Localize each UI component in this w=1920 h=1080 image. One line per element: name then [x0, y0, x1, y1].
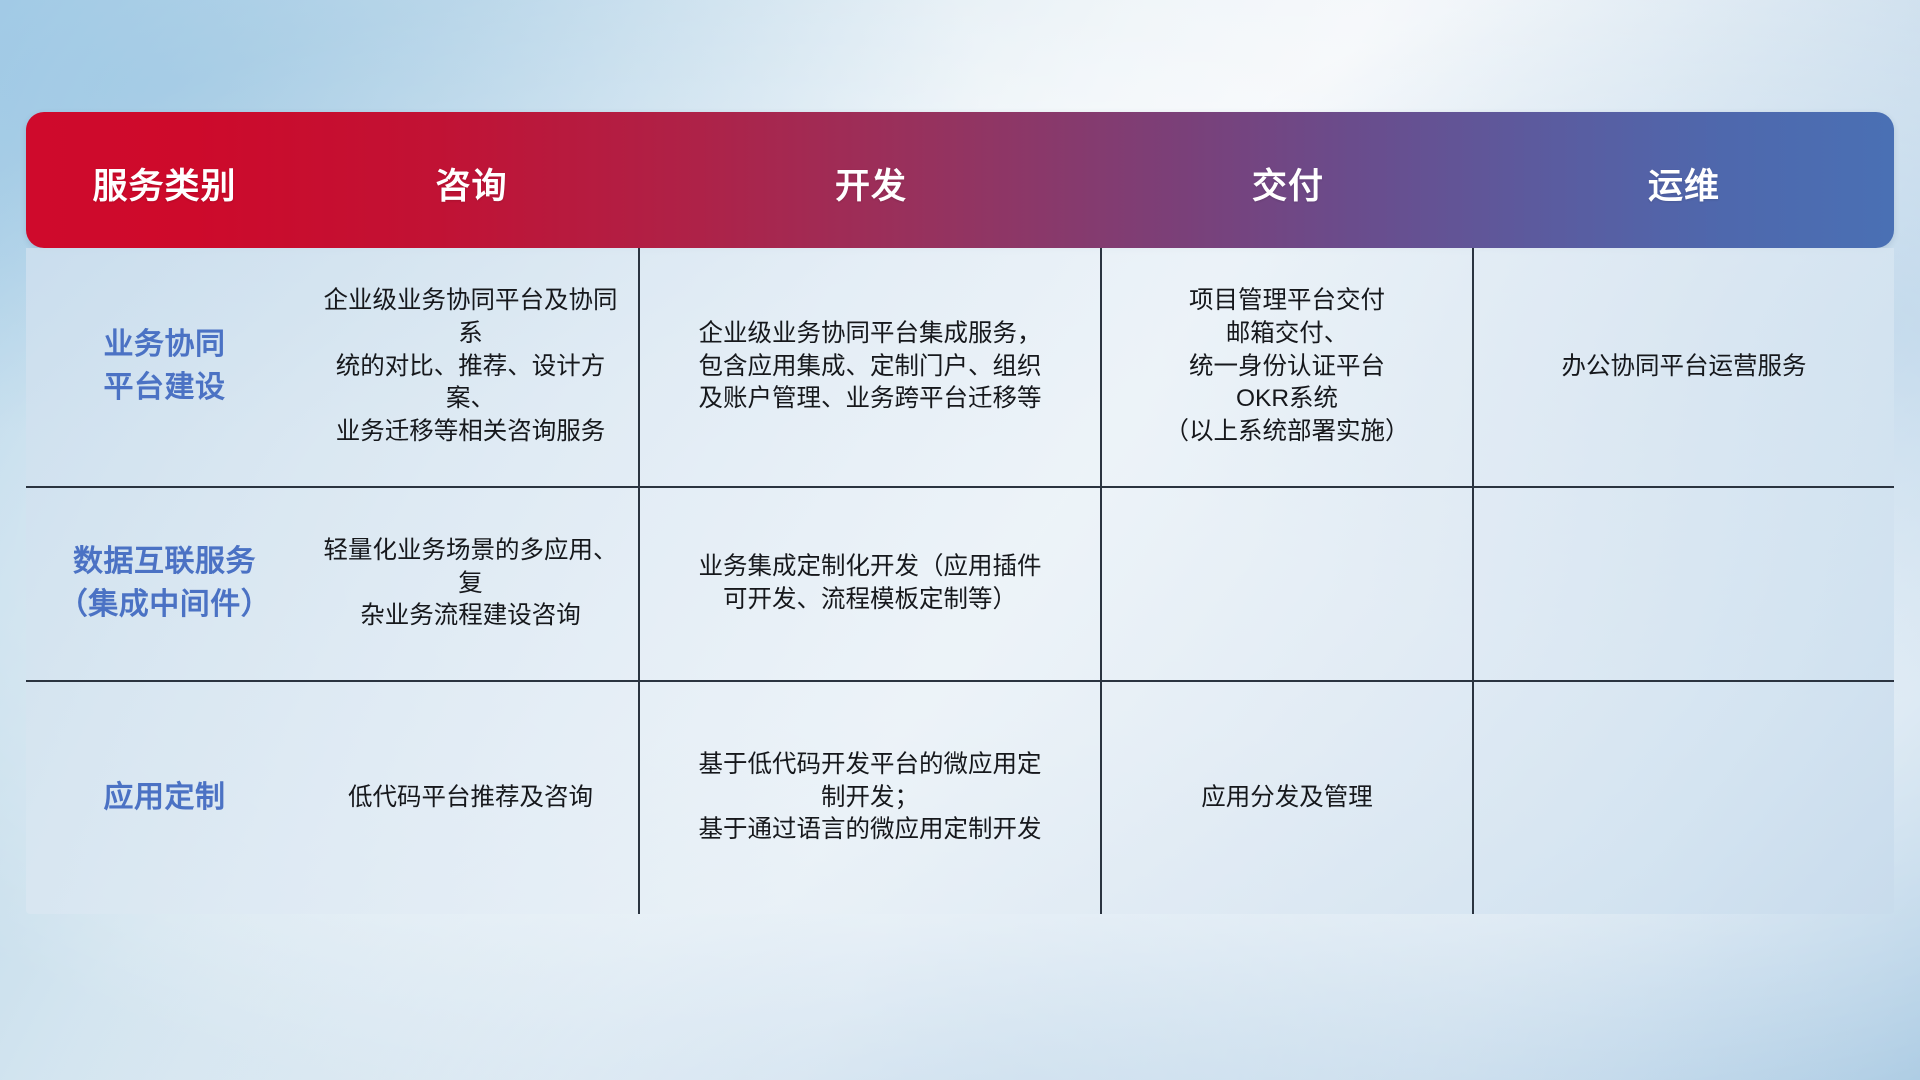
- column-header-category: 服务类别: [26, 112, 303, 248]
- table-header-row: 服务类别 咨询 开发 交付 运维: [26, 112, 1894, 248]
- table-row: 数据互联服务 （集成中间件） 轻量化业务场景的多应用、复 杂业务流程建设咨询 业…: [26, 488, 1894, 682]
- cell-consulting: 轻量化业务场景的多应用、复 杂业务流程建设咨询: [303, 488, 640, 680]
- column-header-operations: 运维: [1474, 112, 1894, 248]
- column-header-development: 开发: [640, 112, 1102, 248]
- cell-delivery: 项目管理平台交付 邮箱交付、 统一身份认证平台 OKR系统 （以上系统部署实施）: [1102, 248, 1474, 486]
- column-header-consulting: 咨询: [303, 112, 640, 248]
- cell-development: 企业级业务协同平台集成服务， 包含应用集成、定制门户、组织 及账户管理、业务跨平…: [640, 248, 1102, 486]
- slide-canvas: 服务类别 咨询 开发 交付 运维 业务协同 平台建设 企业级业务协同平台及协同系…: [0, 0, 1920, 1080]
- cell-operations: [1474, 682, 1894, 914]
- table-body: 业务协同 平台建设 企业级业务协同平台及协同系 统的对比、推荐、设计方案、 业务…: [26, 248, 1894, 914]
- row-category-label: 数据互联服务 （集成中间件）: [26, 488, 303, 680]
- cell-delivery: [1102, 488, 1474, 680]
- cell-delivery: 应用分发及管理: [1102, 682, 1474, 914]
- cell-development: 业务集成定制化开发（应用插件 可开发、流程模板定制等）: [640, 488, 1102, 680]
- cell-operations: [1474, 488, 1894, 680]
- service-matrix-table: 服务类别 咨询 开发 交付 运维 业务协同 平台建设 企业级业务协同平台及协同系…: [26, 112, 1894, 914]
- cell-operations: 办公协同平台运营服务: [1474, 248, 1894, 486]
- row-category-label: 应用定制: [26, 682, 303, 914]
- table-row: 业务协同 平台建设 企业级业务协同平台及协同系 统的对比、推荐、设计方案、 业务…: [26, 248, 1894, 488]
- cell-consulting: 低代码平台推荐及咨询: [303, 682, 640, 914]
- column-header-delivery: 交付: [1102, 112, 1474, 248]
- cell-consulting: 企业级业务协同平台及协同系 统的对比、推荐、设计方案、 业务迁移等相关咨询服务: [303, 248, 640, 486]
- table-row: 应用定制 低代码平台推荐及咨询 基于低代码开发平台的微应用定 制开发； 基于通过…: [26, 682, 1894, 914]
- cell-development: 基于低代码开发平台的微应用定 制开发； 基于通过语言的微应用定制开发: [640, 682, 1102, 914]
- row-category-label: 业务协同 平台建设: [26, 248, 303, 486]
